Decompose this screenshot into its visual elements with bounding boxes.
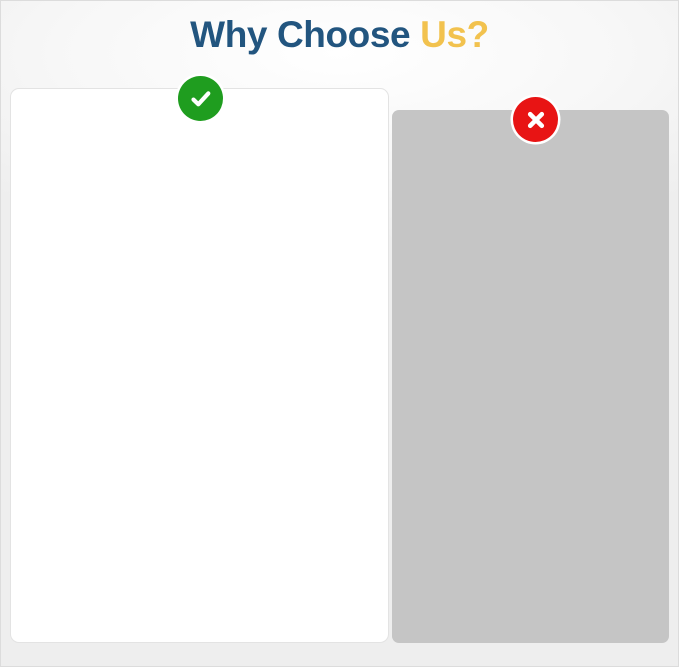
page-title: Why Choose Us? <box>0 13 679 57</box>
pros-panel <box>10 88 389 643</box>
cons-panel <box>392 110 669 643</box>
page-title-accent: Us? <box>420 14 489 55</box>
check-circle-icon <box>178 76 223 121</box>
page-title-primary: Why Choose <box>190 14 420 55</box>
x-circle-icon <box>513 97 558 142</box>
